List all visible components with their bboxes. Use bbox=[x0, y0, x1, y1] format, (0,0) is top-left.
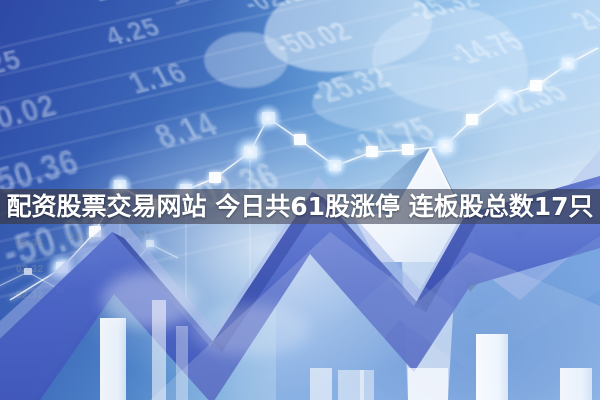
page-title: 配资股票交易网站 今日共61股涨停 连板股总数17只 bbox=[0, 189, 600, 224]
stock-market-banner-image: -50.02 -02.36 -25.32 -11.25 45.02 -02.36… bbox=[0, 0, 600, 400]
bar-column bbox=[176, 326, 188, 400]
center-bloom bbox=[102, 272, 198, 328]
bar-column bbox=[310, 368, 332, 400]
center-bloom-2 bbox=[190, 304, 310, 356]
bar-column bbox=[100, 318, 126, 400]
bar-column bbox=[338, 370, 364, 400]
bar-column bbox=[408, 368, 448, 400]
bar-column bbox=[560, 368, 592, 400]
bar-column bbox=[476, 334, 508, 400]
headline-band: 配资股票交易网站 今日共61股涨停 连板股总数17只 bbox=[0, 189, 600, 224]
